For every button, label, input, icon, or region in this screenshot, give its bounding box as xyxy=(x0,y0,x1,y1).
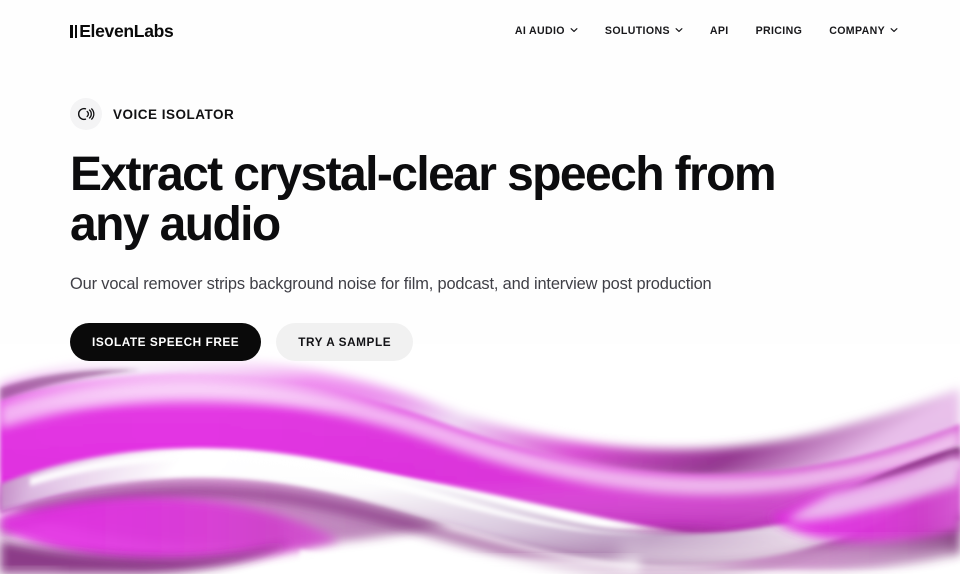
nav-item-company[interactable]: COMPANY xyxy=(829,25,898,37)
nav-label-ai-audio: AI AUDIO xyxy=(515,25,565,37)
voice-wave-icon xyxy=(70,98,102,130)
audio-wave-ribbon xyxy=(0,344,960,574)
brand-logo[interactable]: ElevenLabs xyxy=(70,21,173,42)
product-badge: VOICE ISOLATOR xyxy=(70,98,890,130)
hero-subtitle: Our vocal remover strips background nois… xyxy=(70,273,890,296)
page-title: Extract crystal-clear speech from any au… xyxy=(70,150,860,251)
product-badge-label: VOICE ISOLATOR xyxy=(113,107,234,122)
two-bars-icon xyxy=(70,25,77,38)
chevron-down-icon xyxy=(570,26,578,34)
nav-item-solutions[interactable]: SOLUTIONS xyxy=(605,25,683,37)
nav-label-solutions: SOLUTIONS xyxy=(605,25,670,37)
chevron-down-icon xyxy=(675,26,683,34)
nav-label-api: API xyxy=(710,25,729,37)
nav-item-ai-audio[interactable]: AI AUDIO xyxy=(515,25,578,37)
cta-button-group: ISOLATE SPEECH FREE TRY A SAMPLE xyxy=(70,323,890,361)
try-a-sample-button[interactable]: TRY A SAMPLE xyxy=(276,323,413,361)
isolate-speech-free-button[interactable]: ISOLATE SPEECH FREE xyxy=(70,323,261,361)
chevron-down-icon xyxy=(890,26,898,34)
brand-logo-text: ElevenLabs xyxy=(79,21,173,42)
hero-section: VOICE ISOLATOR Extract crystal-clear spe… xyxy=(0,62,960,361)
site-header: ElevenLabs AI AUDIO SOLUTIONS API PRICIN… xyxy=(0,0,960,62)
nav-item-api[interactable]: API xyxy=(710,25,729,37)
nav-item-pricing[interactable]: PRICING xyxy=(756,25,803,37)
nav-label-pricing: PRICING xyxy=(756,25,803,37)
main-navigation: AI AUDIO SOLUTIONS API PRICING COMPANY xyxy=(515,25,898,37)
nav-label-company: COMPANY xyxy=(829,25,885,37)
